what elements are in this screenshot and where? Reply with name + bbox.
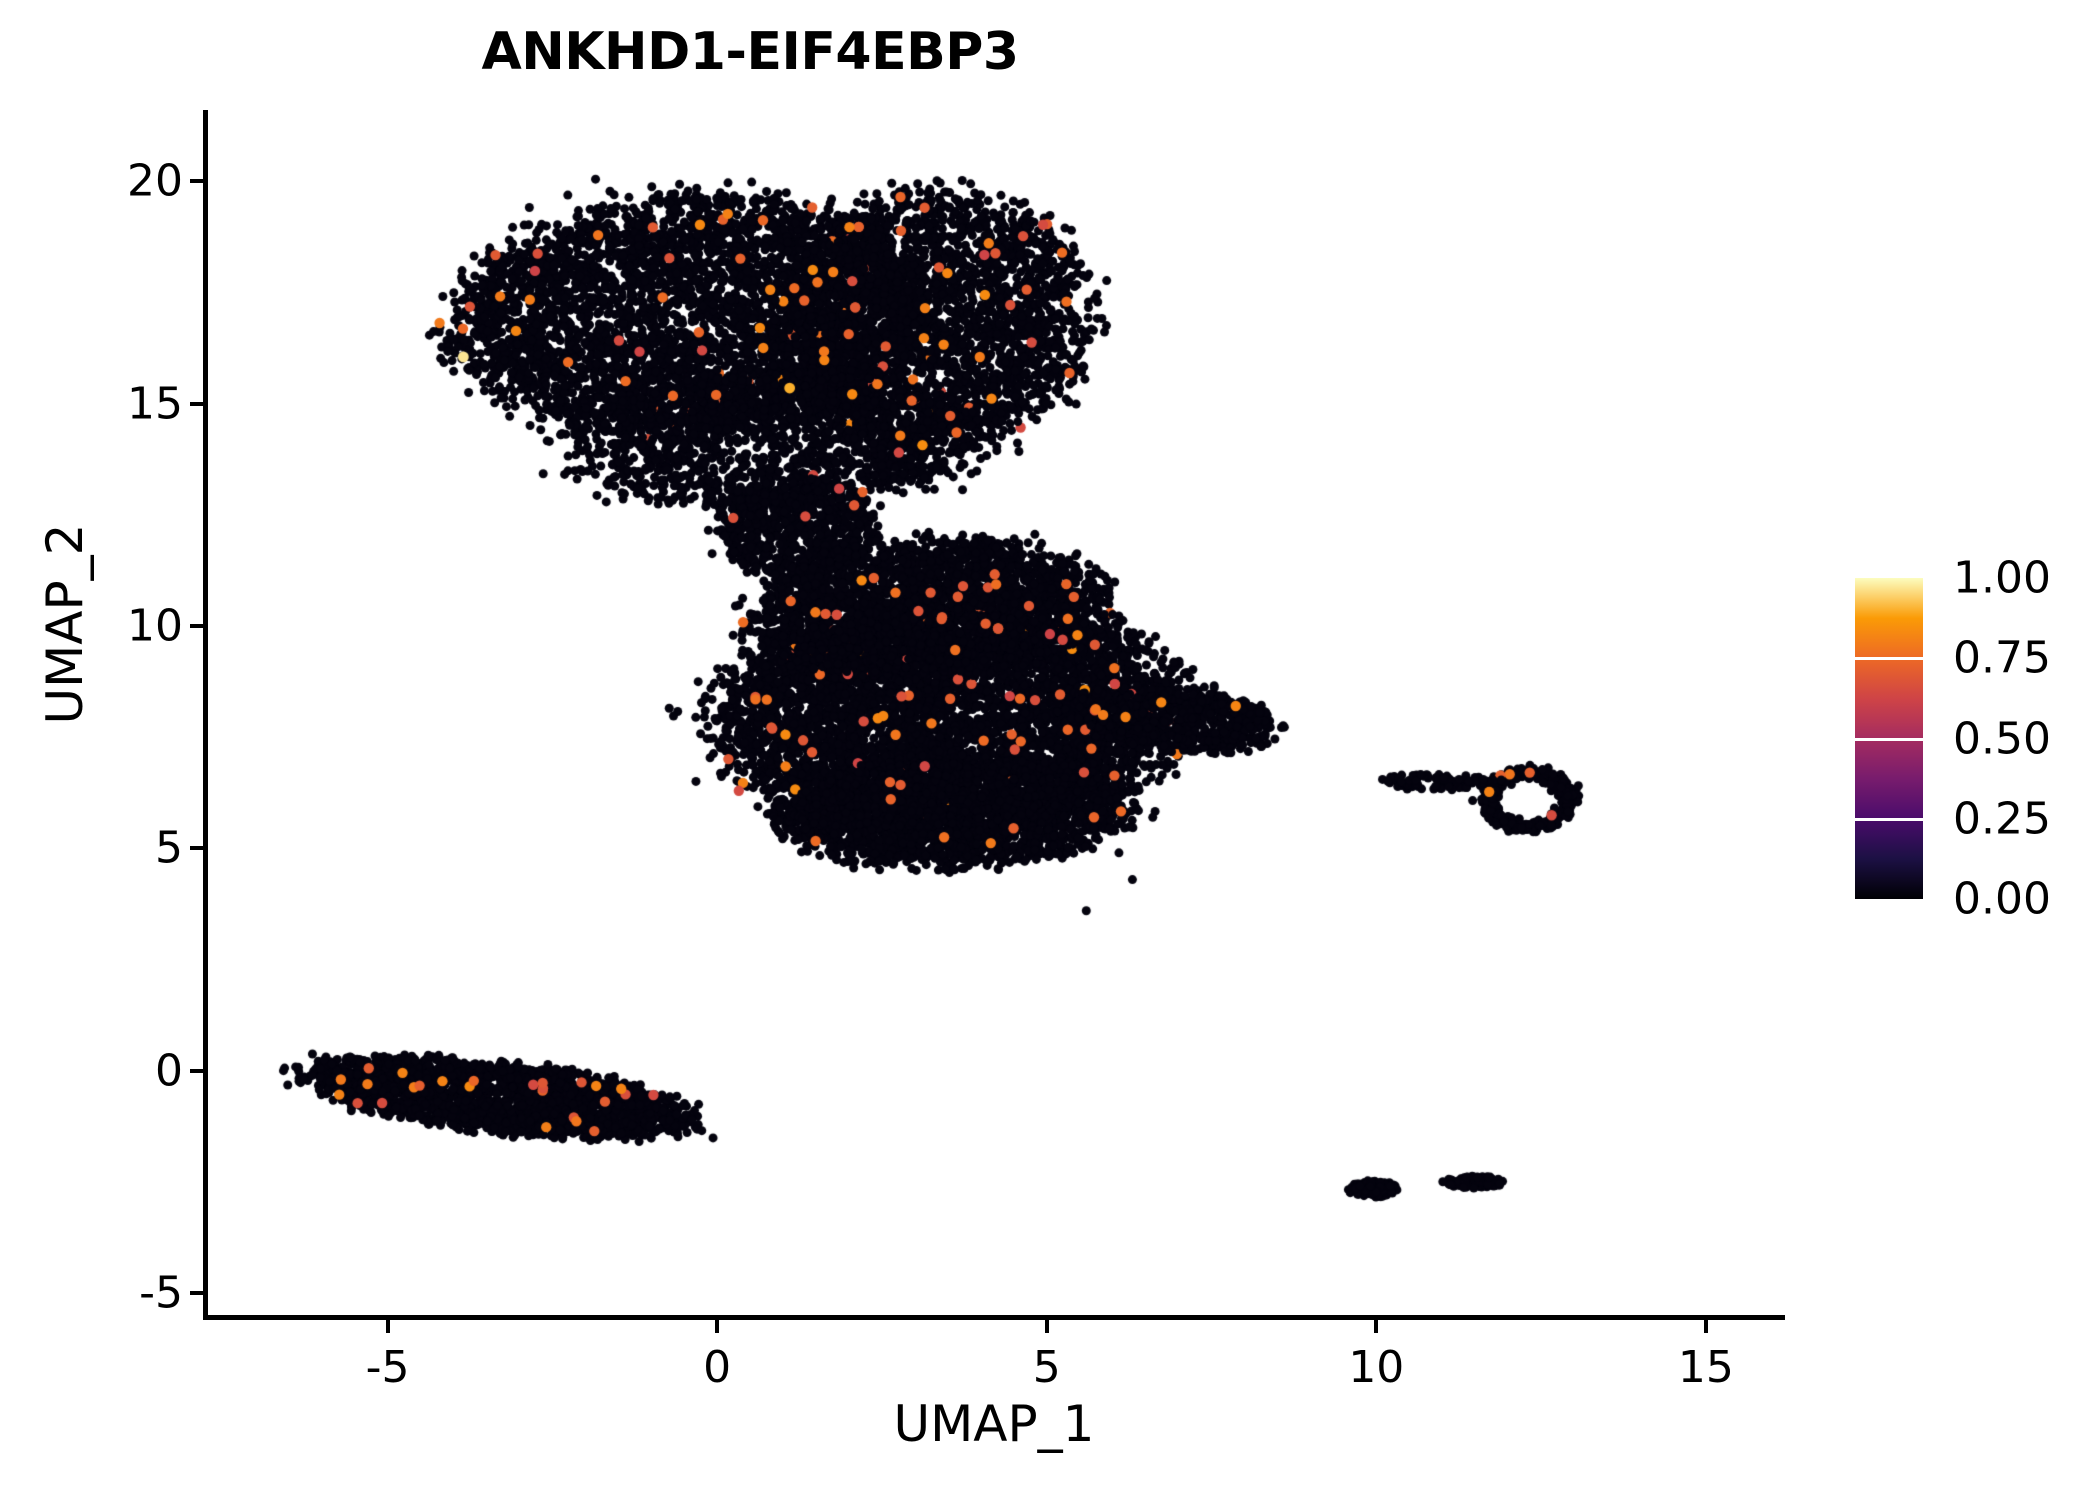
x-tick-label: 10 xyxy=(1348,1342,1404,1393)
y-tick-label: 20 xyxy=(127,156,183,207)
y-tick-mark xyxy=(190,402,203,406)
colorbar-tick-label: 0.50 xyxy=(1953,713,2051,764)
y-tick-label: -5 xyxy=(139,1268,183,1319)
y-tick-mark xyxy=(190,179,203,183)
x-tick-label: -5 xyxy=(366,1342,410,1393)
y-tick-mark xyxy=(190,1069,203,1073)
y-tick-mark xyxy=(190,1291,203,1295)
y-axis-label: UMAP_2 xyxy=(36,344,94,904)
plot-axes: -505101520 -5051015 xyxy=(203,110,1785,1320)
y-tick-label: 5 xyxy=(155,823,183,874)
x-tick-mark xyxy=(715,1320,719,1333)
y-tick-mark xyxy=(190,624,203,628)
colorbar: 0.000.250.500.751.00 xyxy=(1855,578,2095,908)
colorbar-tick-mark xyxy=(1855,578,1923,581)
colorbar-tick-label: 0.25 xyxy=(1953,793,2051,844)
y-tick-mark xyxy=(190,846,203,850)
colorbar-tick-mark xyxy=(1855,657,1923,660)
x-tick-label: 0 xyxy=(703,1342,731,1393)
x-tick-label: 5 xyxy=(1033,1342,1061,1393)
colorbar-tick-mark xyxy=(1855,738,1923,741)
y-tick-label: 15 xyxy=(127,378,183,429)
x-tick-label: 15 xyxy=(1678,1342,1734,1393)
x-axis-label: UMAP_1 xyxy=(203,1395,1785,1453)
x-tick-mark xyxy=(386,1320,390,1333)
colorbar-tick-mark xyxy=(1855,818,1923,821)
y-axis-spine xyxy=(203,110,208,1320)
colorbar-tick-label: 0.75 xyxy=(1953,633,2051,684)
figure-root: ANKHD1-EIF4EBP3 -505101520 -5051015 UMAP… xyxy=(0,0,2100,1500)
y-tick-label: 10 xyxy=(127,601,183,652)
x-axis-spine xyxy=(203,1315,1785,1320)
y-tick-label: 0 xyxy=(155,1045,183,1096)
x-tick-mark xyxy=(1374,1320,1378,1333)
scatter-plot-canvas xyxy=(203,110,1785,1320)
colorbar-tick-label: 0.00 xyxy=(1953,874,2051,925)
x-tick-mark xyxy=(1045,1320,1049,1333)
page-title: ANKHD1-EIF4EBP3 xyxy=(0,22,1500,82)
x-tick-mark xyxy=(1704,1320,1708,1333)
colorbar-tick-mark xyxy=(1855,896,1923,899)
colorbar-tick-label: 1.00 xyxy=(1953,553,2051,604)
